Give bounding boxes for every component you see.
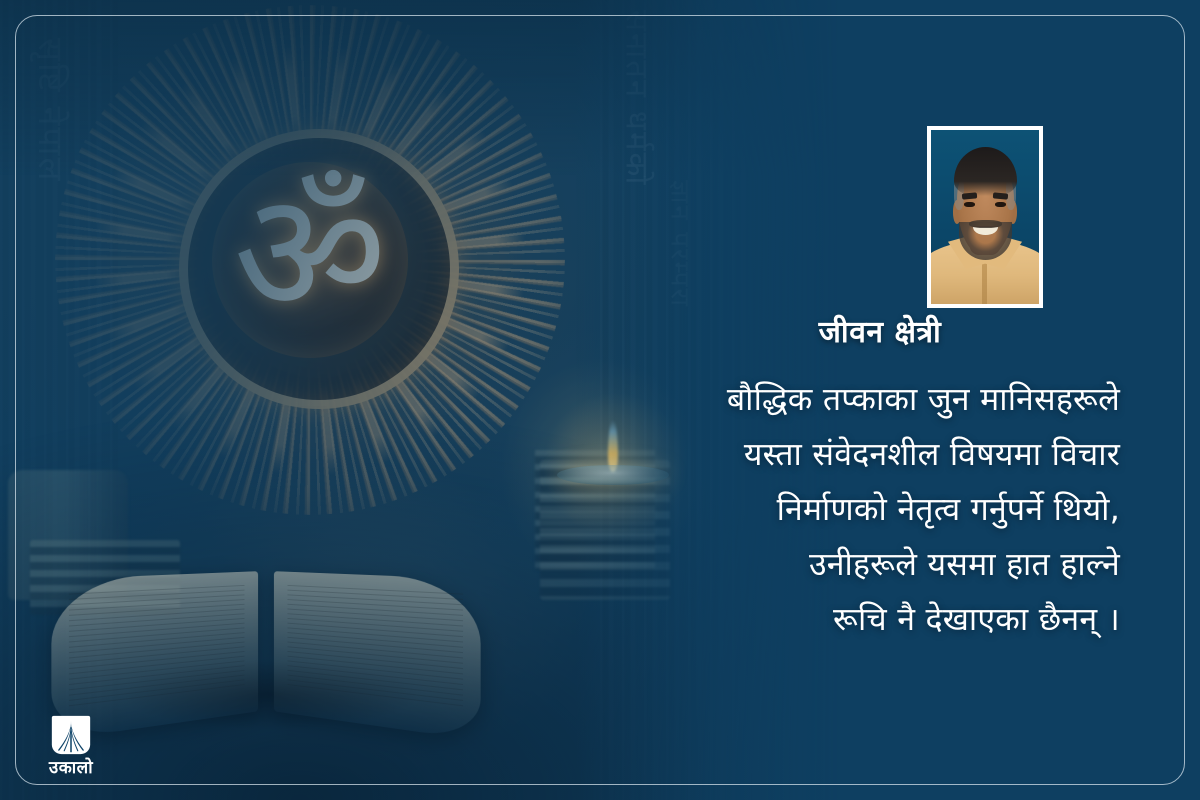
author-moustache — [969, 220, 1002, 229]
quote-line-1: बौद्धिक तप्काका जुन मानिसहरूले — [600, 372, 1120, 427]
author-name: जीवन क्षेत्री — [600, 310, 1160, 351]
author-eyebrow-left — [962, 192, 978, 199]
brand-name: उकालो — [30, 759, 112, 778]
quote-text: बौद्धिक तप्काका जुन मानिसहरूले यस्ता संव… — [600, 372, 1120, 647]
author-eye-right — [995, 202, 1006, 207]
brand-logo[interactable]: उकालो — [30, 712, 112, 778]
quote-line-3: निर्माणको नेतृत्व गर्नुपर्ने थियो, — [600, 482, 1120, 537]
author-eyebrow-right — [992, 192, 1008, 199]
author-photo-inner — [931, 130, 1039, 304]
ukalo-logo-icon — [48, 712, 94, 758]
quote-line-5: रूचि नै देखाएका छैनन् । — [600, 592, 1120, 647]
quote-line-4: उनीहरूले यसमा हात हाल्ने — [600, 537, 1120, 592]
quote-card: सृष्टि नेपाल सनातन धर्मको ज्ञान परम्परा … — [0, 0, 1200, 800]
author-photo — [927, 126, 1043, 308]
quote-line-2: यस्ता संवेदनशील विषयमा विचार — [600, 427, 1120, 482]
